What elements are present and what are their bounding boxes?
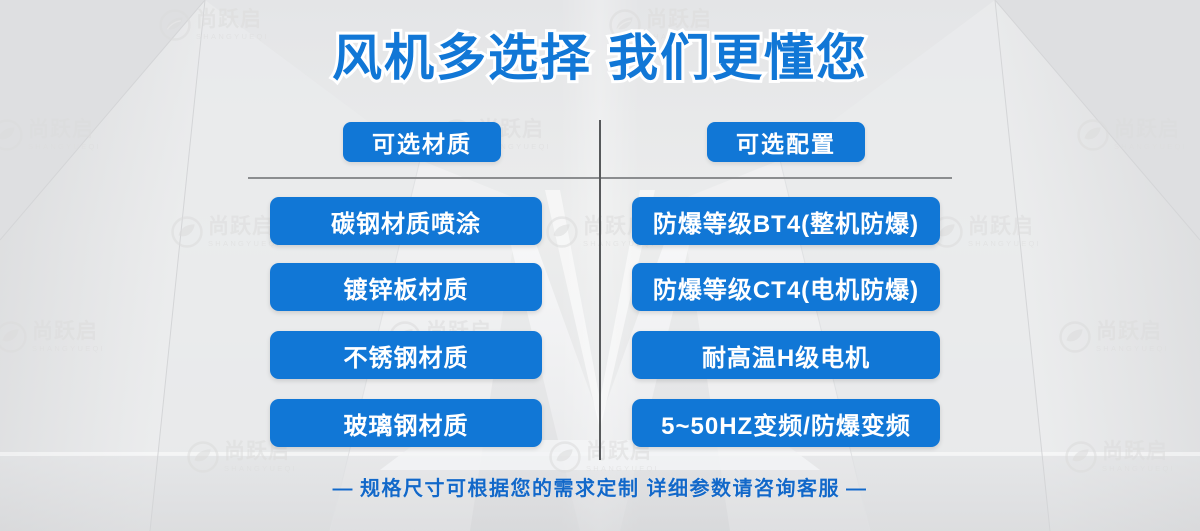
content-layer: 风机多选择 我们更懂您 可选材质 可选配置 碳钢材质喷涂 镀锌板材质 不锈钢材质… <box>0 0 1200 531</box>
list-item[interactable]: 防爆等级BT4(整机防爆) <box>632 197 940 245</box>
footer-dash-right: — <box>840 478 874 500</box>
list-item[interactable]: 玻璃钢材质 <box>270 399 542 447</box>
vertical-divider <box>599 120 601 460</box>
list-item[interactable]: 耐高温H级电机 <box>632 331 940 379</box>
column-header-configurations: 可选配置 <box>707 122 865 162</box>
list-item[interactable]: 镀锌板材质 <box>270 263 542 311</box>
footer-text: 规格尺寸可根据您的需求定制 详细参数请咨询客服 <box>360 478 840 500</box>
column-header-materials: 可选材质 <box>343 122 501 162</box>
footer-dash-left: — <box>326 478 360 500</box>
list-item[interactable]: 不锈钢材质 <box>270 331 542 379</box>
list-item[interactable]: 5~50HZ变频/防爆变频 <box>632 399 940 447</box>
footer-note: —规格尺寸可根据您的需求定制 详细参数请咨询客服— <box>0 472 1200 501</box>
page-title: 风机多选择 我们更懂您 <box>0 18 1200 90</box>
list-item[interactable]: 碳钢材质喷涂 <box>270 197 542 245</box>
list-item[interactable]: 防爆等级CT4(电机防爆) <box>632 263 940 311</box>
